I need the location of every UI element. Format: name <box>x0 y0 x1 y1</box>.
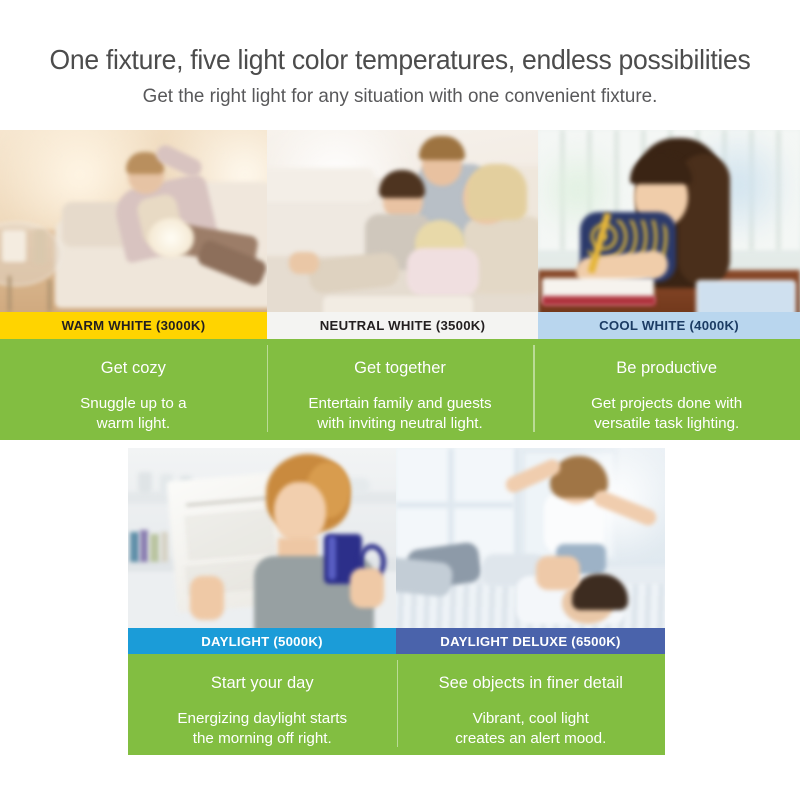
green-cell-daylight-deluxe-title: See objects in finer detail <box>439 674 623 692</box>
green-cell-cool-white: Be productive Get projects done with ver… <box>533 339 800 440</box>
green-cell-warm-white-body: Snuggle up to a warm light. <box>68 394 198 433</box>
photo-daylight-deluxe <box>396 448 665 628</box>
page-title: One fixture, five light color temperatur… <box>14 0 786 75</box>
label-daylight: DAYLIGHT (5000K) <box>128 628 396 654</box>
label-warm-white: WARM WHITE (3000K) <box>0 312 267 339</box>
green-cell-neutral-white-title: Get together <box>354 359 446 377</box>
header: One fixture, five light color temperatur… <box>0 0 800 130</box>
label-daylight-text: DAYLIGHT (5000K) <box>201 634 323 649</box>
photo-warm-white <box>0 130 267 312</box>
label-cool-white-text: COOL WHITE (4000K) <box>599 318 739 333</box>
green-cell-warm-white-title: Get cozy <box>101 359 166 377</box>
green-panel-bottom: Start your day Energizing daylight start… <box>128 654 665 755</box>
photo-neutral-white <box>267 130 538 312</box>
green-cell-daylight-deluxe-body: Vibrant, cool light creates an alert moo… <box>443 709 618 748</box>
label-daylight-deluxe-text: DAYLIGHT DELUXE (6500K) <box>440 634 620 649</box>
label-neutral-white: NEUTRAL WHITE (3500K) <box>267 312 538 339</box>
photo-neutral-white-image <box>267 130 538 312</box>
photo-daylight <box>128 448 396 628</box>
green-cell-cool-white-body: Get projects done with versatile task li… <box>579 394 754 433</box>
label-cool-white: COOL WHITE (4000K) <box>538 312 800 339</box>
photo-daylight-deluxe-image <box>396 448 665 628</box>
photo-cool-white <box>538 130 800 312</box>
photo-daylight-image <box>128 448 396 628</box>
green-cell-neutral-white: Get together Entertain family and guests… <box>267 339 534 440</box>
green-cell-daylight: Start your day Energizing daylight start… <box>128 654 397 755</box>
green-panel-top: Get cozy Snuggle up to a warm light. Get… <box>0 339 800 440</box>
infographic-page: One fixture, five light color temperatur… <box>0 0 800 800</box>
label-neutral-white-text: NEUTRAL WHITE (3500K) <box>320 318 485 333</box>
green-cell-neutral-white-body: Entertain family and guests with invitin… <box>296 394 503 433</box>
photo-cool-white-image <box>538 130 800 312</box>
green-cell-daylight-body: Energizing daylight starts the morning o… <box>165 709 359 748</box>
green-cell-daylight-title: Start your day <box>211 674 314 692</box>
green-cell-warm-white: Get cozy Snuggle up to a warm light. <box>0 339 267 440</box>
label-warm-white-text: WARM WHITE (3000K) <box>62 318 206 333</box>
green-cell-cool-white-title: Be productive <box>616 359 717 377</box>
photo-warm-white-image <box>0 130 267 312</box>
label-daylight-deluxe: DAYLIGHT DELUXE (6500K) <box>396 628 665 654</box>
page-subtitle: Get the right light for any situation wi… <box>14 75 786 107</box>
green-cell-daylight-deluxe: See objects in finer detail Vibrant, coo… <box>397 654 666 755</box>
